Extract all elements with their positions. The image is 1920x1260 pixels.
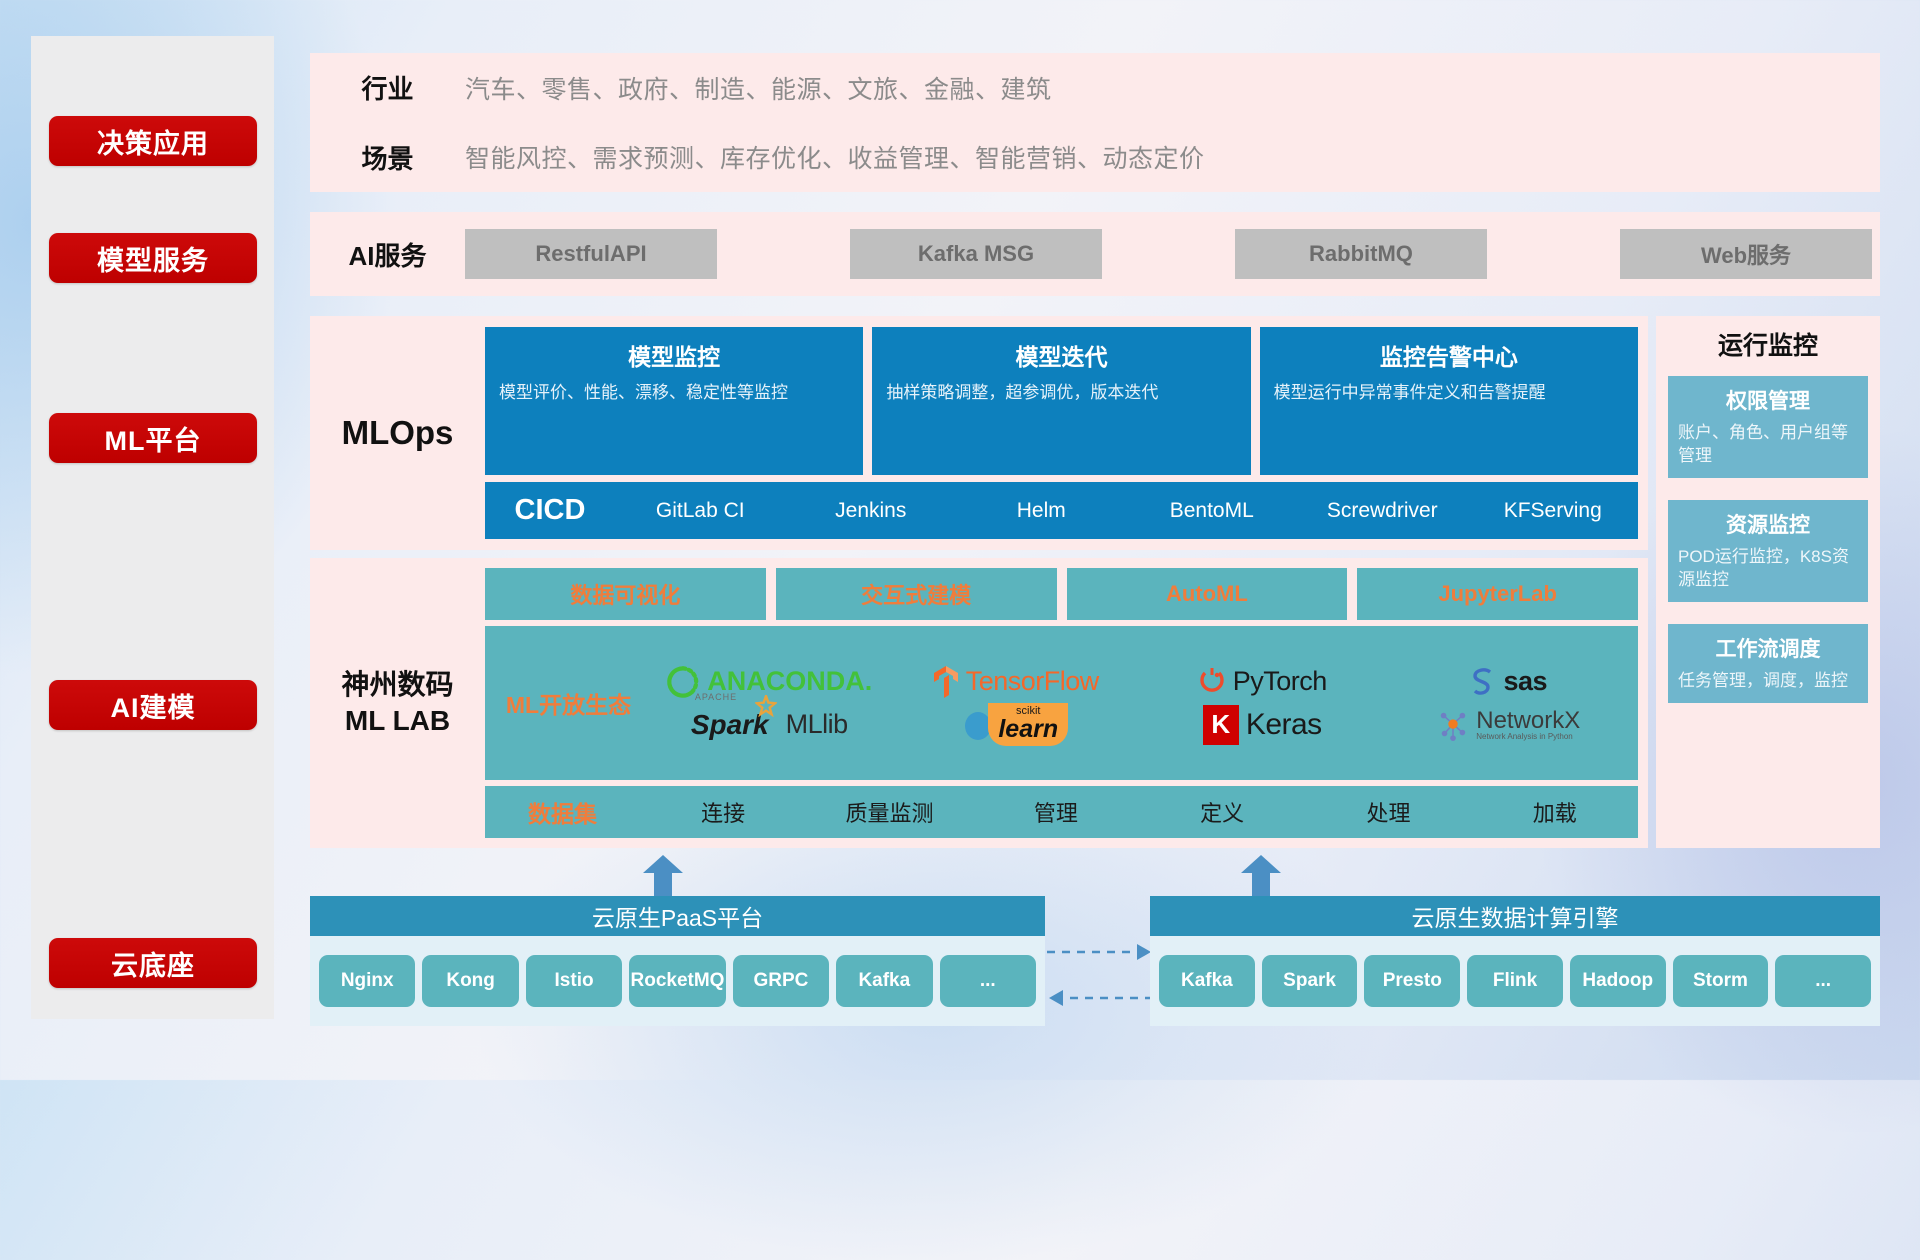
cloud-native-data-engine-panel: 云原生数据计算引擎 Kafka Spark Presto Flink Hadoo… (1150, 896, 1880, 1026)
mlops-card-title: 模型迭代 (886, 338, 1236, 372)
engine-chip-kafka[interactable]: Kafka (1159, 955, 1255, 1007)
logo-tensorflow[interactable]: TensorFlow (893, 660, 1140, 703)
logo-pytorch-text: PyTorch (1233, 666, 1327, 697)
logo-networkx[interactable]: NetworkX Network Analysis in Python (1386, 703, 1633, 746)
logo-mllib-text: MLlib (786, 709, 848, 740)
monitor-card-desc: 任务管理，调度，监控 (1678, 670, 1858, 693)
mlops-card-title: 模型监控 (499, 338, 849, 372)
paas-chip-istio[interactable]: Istio (526, 955, 622, 1007)
engine-title: 云原生数据计算引擎 (1150, 896, 1880, 936)
paas-chip-nginx[interactable]: Nginx (319, 955, 415, 1007)
mlops-card-desc: 抽样策略调整，超参调优，版本迭代 (886, 382, 1236, 405)
dataset-title: 数据集 (485, 795, 640, 829)
decision-application-panel: 行业 汽车、零售、政府、制造、能源、文旅、金融、建筑 场景 智能风控、需求预测、… (310, 53, 1880, 192)
layer-label-ml-platform[interactable]: ML平台 (49, 413, 257, 463)
engine-chip-presto[interactable]: Presto (1364, 955, 1460, 1007)
cicd-item-jenkins[interactable]: Jenkins (786, 498, 957, 524)
monitor-card-title: 工作流调度 (1678, 633, 1858, 663)
logo-tensorflow-text: TensorFlow (966, 666, 1099, 697)
ai-service-box-restfulapi[interactable]: RestfulAPI (465, 229, 717, 279)
spark-star-icon (755, 695, 777, 717)
dataset-items: 连接 质量监测 管理 定义 处理 加载 (640, 796, 1638, 828)
monitor-card-title: 资源监控 (1678, 509, 1858, 539)
logo-networkx-text: NetworkX (1476, 709, 1580, 733)
cicd-item-gitlab-ci[interactable]: GitLab CI (615, 498, 786, 524)
logo-sas-text: sas (1503, 666, 1547, 697)
logo-spark-apache-text: APACHE (695, 692, 737, 702)
cicd-item-screwdriver[interactable]: Screwdriver (1297, 498, 1468, 524)
dataset-item-quality-monitoring[interactable]: 质量监测 (806, 796, 972, 828)
paas-chip-rocketmq[interactable]: RocketMQ (629, 955, 725, 1007)
cicd-item-helm[interactable]: Helm (956, 498, 1127, 524)
ml-lab-panel: 神州数码 ML LAB 数据可视化 交互式建模 AutoML JupyterLa… (310, 558, 1648, 848)
engine-chip-more[interactable]: ... (1775, 955, 1871, 1007)
mlops-content: 模型监控 模型评价、性能、漂移、稳定性等监控 模型迭代 抽样策略调整，超参调优，… (485, 316, 1648, 550)
bidirectional-dashed-arrows-icon (1045, 940, 1155, 1010)
monitor-card-desc: 账户、角色、用户组等管理 (1678, 422, 1858, 468)
ai-service-box-web-service[interactable]: Web服务 (1620, 229, 1872, 279)
runtime-monitoring-title: 运行监控 (1668, 326, 1868, 362)
dataset-item-load[interactable]: 加载 (1472, 796, 1638, 828)
paas-title: 云原生PaaS平台 (310, 896, 1045, 936)
ml-open-ecosystem: ML开放生态 ANACONDA. (485, 626, 1638, 780)
mlops-card-model-iteration[interactable]: 模型迭代 抽样策略调整，超参调优，版本迭代 (872, 327, 1250, 475)
engine-chip-spark[interactable]: Spark (1262, 955, 1358, 1007)
ml-lab-tile-data-visualization[interactable]: 数据可视化 (485, 568, 766, 620)
logo-scikit-learn[interactable]: scikit learn (893, 703, 1140, 746)
ai-service-panel: AI服务 RestfulAPI Kafka MSG RabbitMQ Web服务 (310, 212, 1880, 296)
ml-lab-label-line2: ML LAB (345, 703, 450, 739)
mlops-panel: MLOps 模型监控 模型评价、性能、漂移、稳定性等监控 模型迭代 抽样策略调整… (310, 316, 1648, 550)
logo-keras-text: Keras (1246, 708, 1322, 742)
up-arrow-engine-icon (1238, 855, 1284, 897)
layer-label-ai-modeling[interactable]: AI建模 (49, 680, 257, 730)
mlops-cards: 模型监控 模型评价、性能、漂移、稳定性等监控 模型迭代 抽样策略调整，超参调优，… (485, 327, 1638, 475)
ml-open-ecosystem-label: ML开放生态 (491, 686, 646, 720)
engine-chips: Kafka Spark Presto Flink Hadoop Storm ..… (1150, 936, 1880, 1026)
keras-k-icon: K (1203, 705, 1239, 745)
ml-lab-tile-automl[interactable]: AutoML (1067, 568, 1348, 620)
ml-lab-tile-jupyterlab[interactable]: JupyterLab (1357, 568, 1638, 620)
cicd-bar: CICD GitLab CI Jenkins Helm BentoML Scre… (485, 482, 1638, 539)
dataset-item-connect[interactable]: 连接 (640, 796, 806, 828)
ecosystem-logo-grid: ANACONDA. TensorFlow (646, 660, 1632, 746)
layer-label-cloud-base[interactable]: 云底座 (49, 938, 257, 988)
paas-chip-kafka[interactable]: Kafka (836, 955, 932, 1007)
ml-lab-label-line1: 神州数码 (341, 667, 453, 703)
ai-service-box-kafka-msg[interactable]: Kafka MSG (850, 229, 1102, 279)
mlops-card-alert-center[interactable]: 监控告警中心 模型运行中异常事件定义和告警提醒 (1260, 327, 1638, 475)
cicd-item-kfserving[interactable]: KFServing (1468, 498, 1639, 524)
industry-values: 汽车、零售、政府、制造、能源、文旅、金融、建筑 (465, 70, 1052, 106)
architecture-diagram: 决策应用 模型服务 ML平台 AI建模 云底座 行业 汽车、零售、政府、制造、能… (0, 0, 1920, 1080)
logo-learn-text: learn (998, 717, 1058, 742)
mlops-card-title: 监控告警中心 (1274, 338, 1624, 372)
dataset-item-process[interactable]: 处理 (1305, 796, 1471, 828)
dataset-bar: 数据集 连接 质量监测 管理 定义 处理 加载 (485, 786, 1638, 838)
ai-service-label: AI服务 (310, 236, 465, 273)
engine-chip-storm[interactable]: Storm (1673, 955, 1769, 1007)
layer-label-decision[interactable]: 决策应用 (49, 116, 257, 166)
layer-label-model-service[interactable]: 模型服务 (49, 233, 257, 283)
ml-lab-content: 数据可视化 交互式建模 AutoML JupyterLab ML开放生态 ANA… (485, 558, 1648, 848)
pytorch-icon (1198, 666, 1226, 698)
layer-rail: 决策应用 模型服务 ML平台 AI建模 云底座 (31, 36, 274, 1019)
paas-chip-more[interactable]: ... (940, 955, 1036, 1007)
logo-spark-mllib[interactable]: APACHE Spark MLlib (646, 703, 893, 746)
scenario-row: 场景 智能风控、需求预测、库存优化、收益管理、智能营销、动态定价 (310, 123, 1880, 193)
engine-chip-hadoop[interactable]: Hadoop (1570, 955, 1666, 1007)
industry-label: 行业 (310, 69, 465, 106)
cicd-item-bentoml[interactable]: BentoML (1127, 498, 1298, 524)
networkx-graph-icon (1437, 709, 1469, 741)
cicd-title: CICD (485, 494, 615, 527)
engine-chip-flink[interactable]: Flink (1467, 955, 1563, 1007)
logo-keras[interactable]: K Keras (1139, 703, 1386, 746)
monitor-card-resource[interactable]: 资源监控 POD运行监控，K8S资源监控 (1668, 500, 1868, 602)
ai-service-box-rabbitmq[interactable]: RabbitMQ (1235, 229, 1487, 279)
scenario-label: 场景 (310, 139, 465, 176)
logo-sas[interactable]: sas (1386, 660, 1633, 703)
mlops-label: MLOps (310, 316, 485, 550)
runtime-monitoring-panel: 运行监控 权限管理 账户、角色、用户组等管理 资源监控 POD运行监控，K8S资… (1656, 316, 1880, 848)
tensorflow-icon (933, 665, 959, 699)
up-arrow-paas-icon (640, 855, 686, 897)
cicd-items: GitLab CI Jenkins Helm BentoML Screwdriv… (615, 498, 1638, 524)
paas-chip-grpc[interactable]: GRPC (733, 955, 829, 1007)
mlops-card-model-monitoring[interactable]: 模型监控 模型评价、性能、漂移、稳定性等监控 (485, 327, 863, 475)
ml-lab-label: 神州数码 ML LAB (310, 558, 485, 848)
industry-row: 行业 汽车、零售、政府、制造、能源、文旅、金融、建筑 (310, 53, 1880, 123)
ml-lab-tile-interactive-modeling[interactable]: 交互式建模 (776, 568, 1057, 620)
dataset-item-manage[interactable]: 管理 (973, 796, 1139, 828)
paas-chips: Nginx Kong Istio RocketMQ GRPC Kafka ... (310, 936, 1045, 1026)
paas-chip-kong[interactable]: Kong (422, 955, 518, 1007)
monitor-card-title: 权限管理 (1678, 385, 1858, 415)
scenario-values: 智能风控、需求预测、库存优化、收益管理、智能营销、动态定价 (465, 139, 1205, 175)
ai-service-boxes: RestfulAPI Kafka MSG RabbitMQ Web服务 (465, 229, 1880, 279)
mlops-card-desc: 模型评价、性能、漂移、稳定性等监控 (499, 382, 849, 405)
logo-pytorch[interactable]: PyTorch (1139, 660, 1386, 703)
cloud-native-paas-panel: 云原生PaaS平台 Nginx Kong Istio RocketMQ GRPC… (310, 896, 1045, 1026)
dataset-item-define[interactable]: 定义 (1139, 796, 1305, 828)
ml-lab-tiles: 数据可视化 交互式建模 AutoML JupyterLab (485, 568, 1638, 620)
mlops-card-desc: 模型运行中异常事件定义和告警提醒 (1274, 382, 1624, 405)
monitor-card-workflow[interactable]: 工作流调度 任务管理，调度，监控 (1668, 624, 1868, 703)
monitor-card-permission[interactable]: 权限管理 账户、角色、用户组等管理 (1668, 376, 1868, 478)
monitor-card-desc: POD运行监控，K8S资源监控 (1678, 546, 1858, 592)
logo-networkx-subtitle: Network Analysis in Python (1476, 733, 1580, 741)
sas-icon (1470, 667, 1496, 697)
